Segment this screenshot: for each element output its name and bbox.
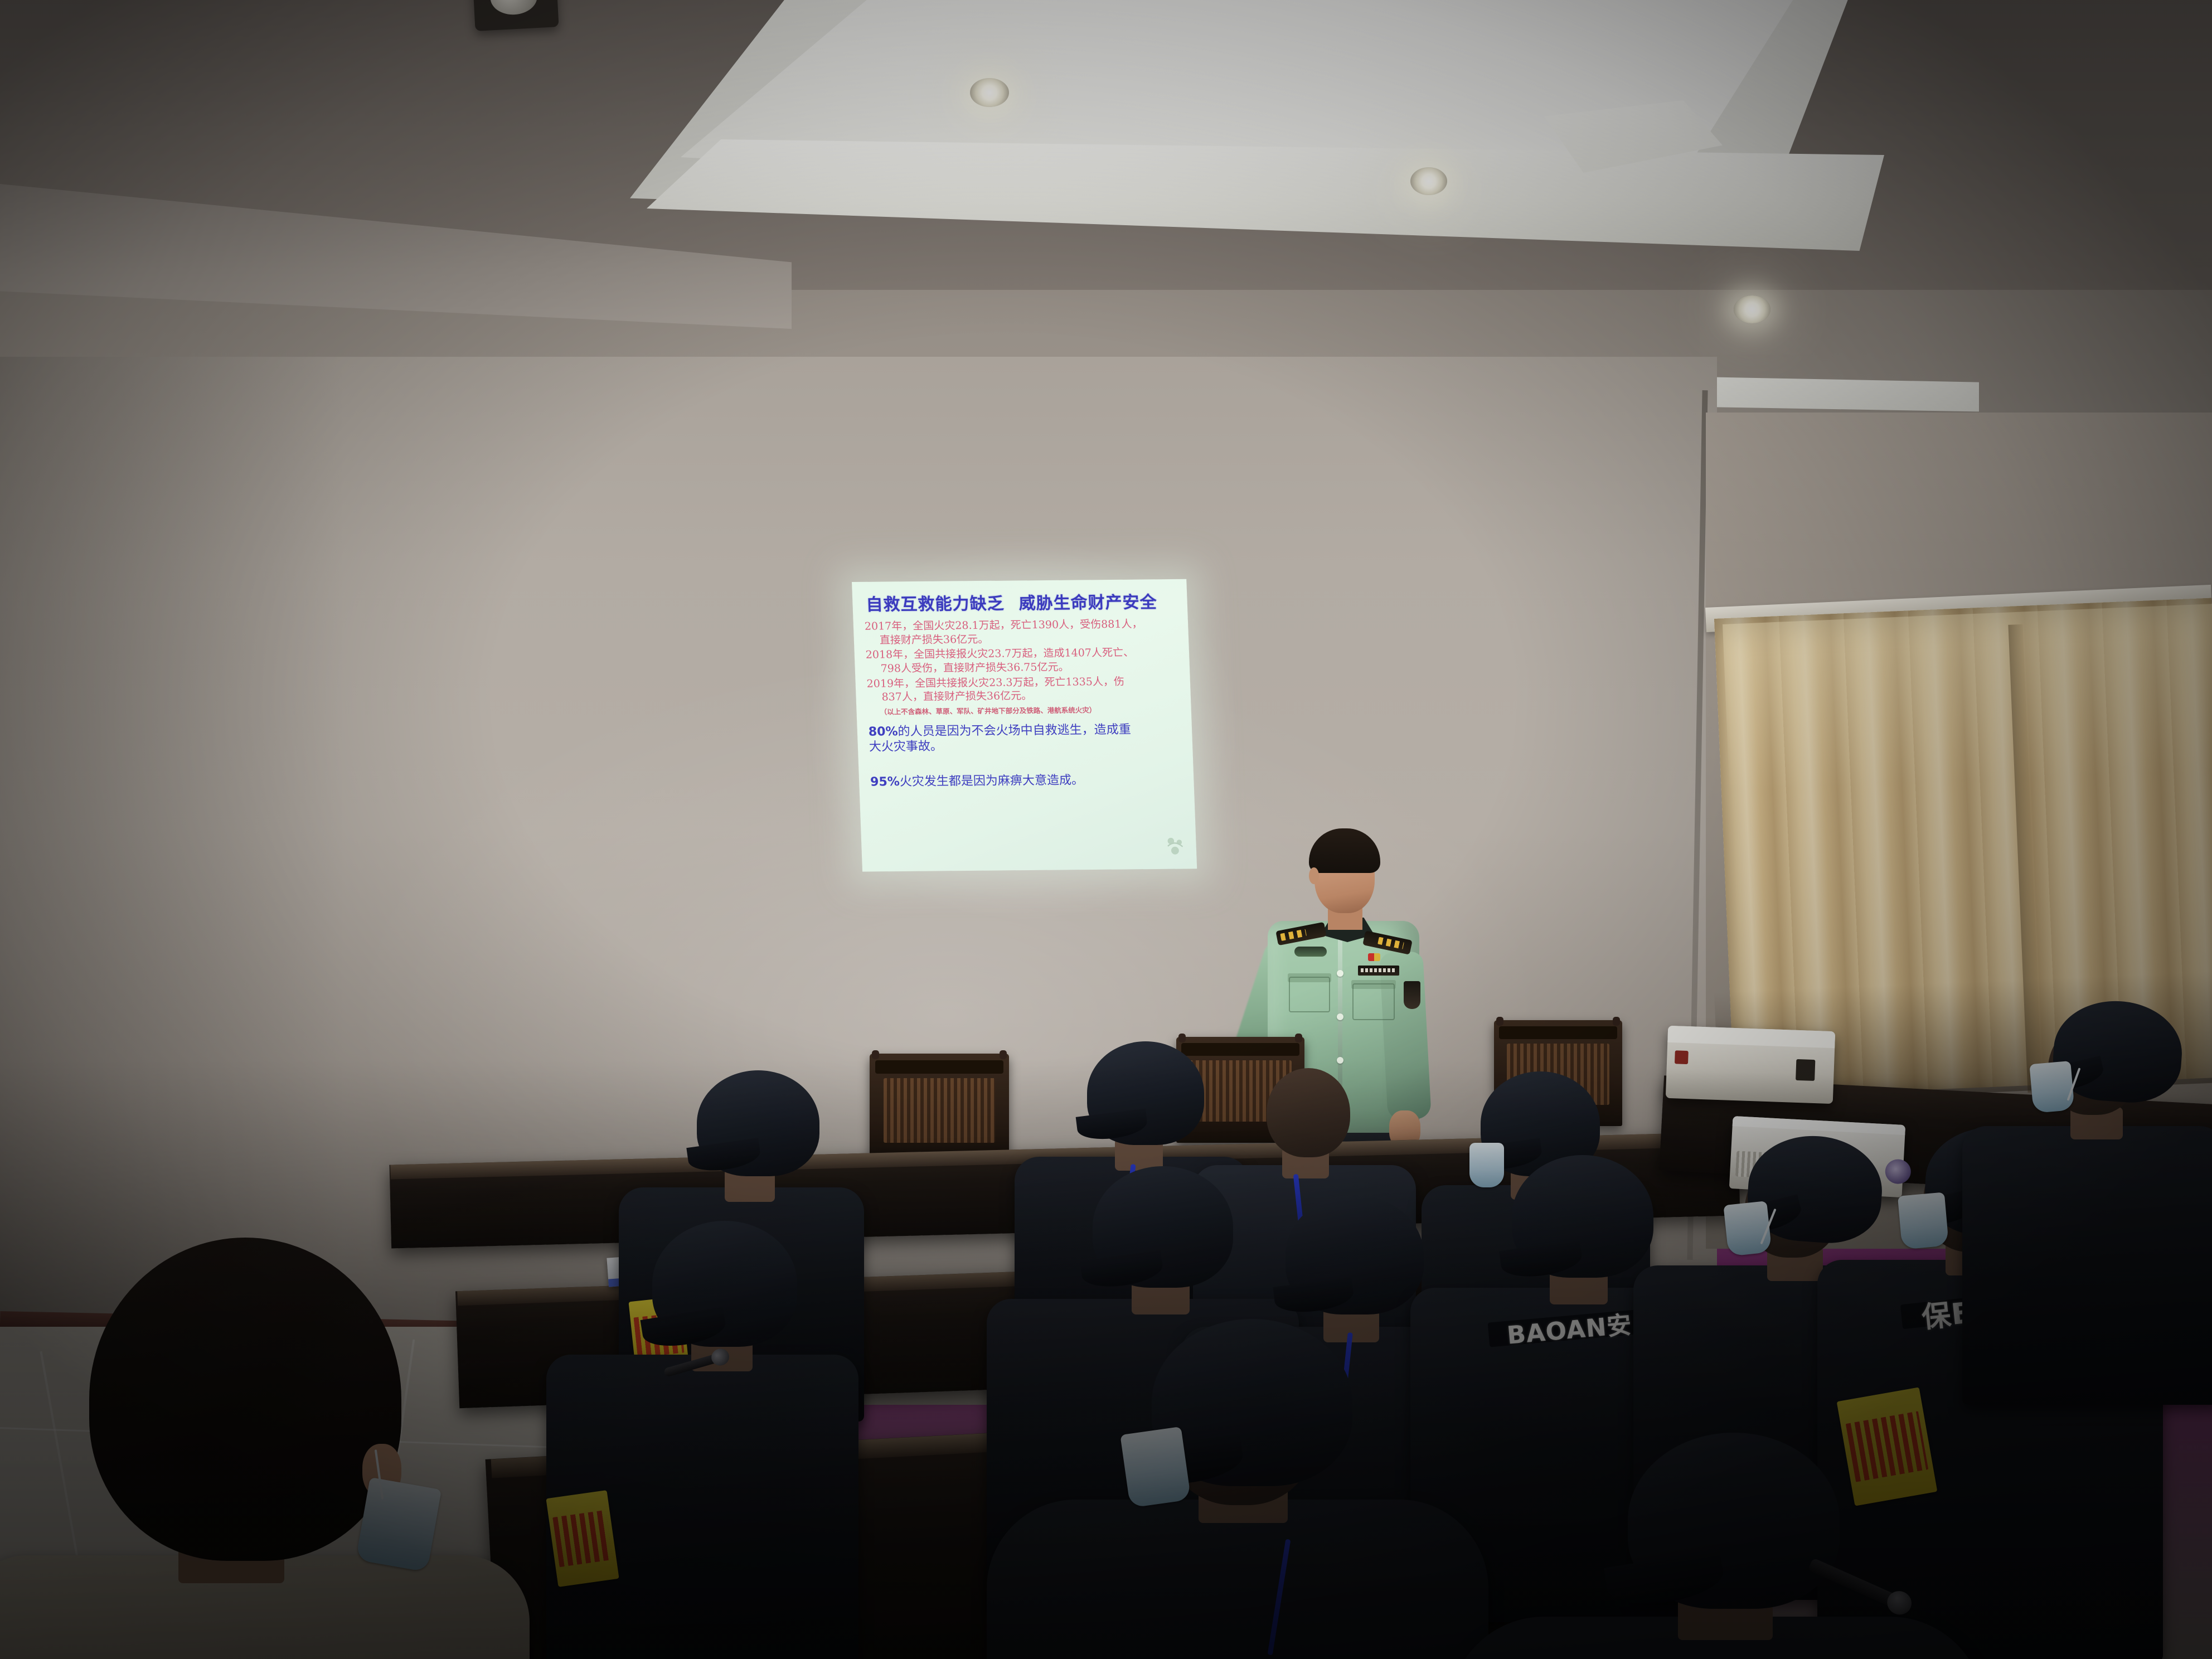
attendee-face-mask: [1120, 1427, 1191, 1508]
attendee-armband: [546, 1490, 619, 1587]
chair-rail: [1499, 1026, 1617, 1039]
stat-line: 837人，直接财产损失36亿元。: [867, 688, 1181, 705]
chair-rail: [1181, 1043, 1299, 1056]
slide-highlight-95: 95%火灾发生都是因为麻痹大意造成。: [870, 772, 1184, 790]
slide-highlight-80-cont: 大火灾事故。: [869, 738, 1182, 755]
attendee-face-mask: [1469, 1143, 1504, 1187]
presenter-chest-pocket: [1352, 983, 1395, 1020]
projector-case[interactable]: [1666, 1026, 1835, 1104]
projected-slide: 自救互救能力缺乏 威胁生命财产安全 2017年，全国火灾28.1万起，死亡139…: [852, 579, 1197, 872]
armband-text: [552, 1510, 613, 1567]
chair-rail: [875, 1060, 1003, 1074]
case-latch-icon: [1675, 1050, 1689, 1064]
attendee-face-mask: [1898, 1192, 1949, 1250]
stat-line: 798人受伤，直接财产损失36.75亿元。: [866, 659, 1180, 676]
ceiling-downlight-icon: [1410, 167, 1447, 195]
stat-line: 2018年，全国共接报火灾23.7万起，造成1407人死亡、: [865, 646, 1179, 662]
highlight-text-80: 的人员是因为不会火场中自救逃生，造成重: [898, 723, 1131, 739]
slide-stat-2019: 2019年，全国共接报火灾23.3万起，死亡1335人，伤 837人，直接财产损…: [866, 675, 1181, 705]
presenter-flag-pin-icon: [1368, 953, 1380, 961]
attendee-torso: [1962, 1126, 2212, 1405]
slide-stat-2018: 2018年，全国共接报火灾23.7万起，造成1407人死亡、 798人受伤，直接…: [865, 646, 1180, 676]
attendee-face-mask: [1723, 1201, 1772, 1257]
ceiling-downlight-icon: [1734, 295, 1770, 323]
attendee-head: [1267, 1068, 1350, 1157]
presenter-right-arm: [1379, 951, 1432, 1120]
wall-clock: [472, 0, 559, 31]
attendee-face-mask: [2029, 1061, 2074, 1113]
chair-knob: [1613, 1017, 1620, 1026]
slide-title: 自救互救能力缺乏 威胁生命财产安全: [866, 588, 1178, 615]
slide-watermark-logo-icon: [1162, 833, 1189, 859]
presenter-ear: [1309, 867, 1319, 884]
armband-text: [1846, 1411, 1928, 1482]
chair-slats: [884, 1078, 995, 1143]
presenter-shoulder-patch-icon: [1404, 981, 1420, 1009]
slide-title-left: 自救互救能力缺乏: [866, 590, 1005, 615]
presenter-name-badge: [1358, 966, 1399, 976]
chair-knob: [1178, 1034, 1186, 1042]
presenter-hair: [1309, 828, 1380, 873]
ceiling-downlight-icon: [970, 78, 1009, 107]
highlight-percent-95: 95%: [870, 775, 900, 789]
slide-title-right: 威胁生命财产安全: [1018, 588, 1158, 614]
slide-footnote: （以上不含森林、草原、军队、矿井地下部分及铁路、港航系统火灾）: [867, 705, 1181, 716]
chair[interactable]: [870, 1054, 1009, 1165]
presenter-chest-pocket: [1289, 977, 1330, 1012]
foreground-person-mask: [356, 1477, 442, 1572]
lecture-room-photo: 自救互救能力缺乏 威胁生命财产安全 2017年，全国火灾28.1万起，死亡139…: [0, 0, 2212, 1659]
chair-knob: [1496, 1017, 1503, 1026]
attendee-torso: [987, 1500, 1488, 1659]
chair-knob: [1000, 1050, 1007, 1059]
stat-line: 直接财产损失36亿元。: [865, 631, 1178, 648]
stat-line: 2017年，全国火灾28.1万起，死亡1390人，受伤881人，: [864, 617, 1178, 634]
case-latch-icon: [1796, 1059, 1815, 1081]
presenter-chest-insignia-icon: [1294, 947, 1327, 957]
chair-knob: [1295, 1034, 1302, 1042]
presenter-shirt-button: [1337, 1057, 1343, 1064]
foreground-person-hair: [89, 1238, 401, 1561]
presenter-shirt-button: [1337, 970, 1343, 977]
chair-knob: [872, 1050, 879, 1059]
slide-stat-2017: 2017年，全国火灾28.1万起，死亡1390人，受伤881人， 直接财产损失3…: [864, 617, 1178, 647]
highlight-text-95: 火灾发生都是因为麻痹大意造成。: [899, 773, 1084, 789]
presenter-shirt-button: [1337, 1013, 1343, 1020]
curtain-highlight: [1723, 604, 2212, 792]
highlight-percent-80: 80%: [868, 725, 898, 739]
